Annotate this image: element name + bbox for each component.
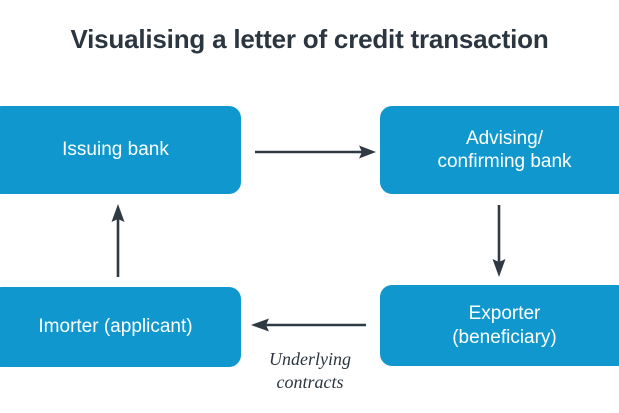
caption-underlying-contracts: Underlying contracts xyxy=(230,348,390,394)
arrow-importer-to-issuing-bank-icon xyxy=(112,204,125,277)
node-exporter-beneficiary-label: Exporter (beneficiary) xyxy=(452,302,557,348)
node-advising-confirming-bank: Advising/ confirming bank xyxy=(380,106,619,194)
arrow-advising-bank-to-exporter-icon xyxy=(493,205,506,277)
node-advising-confirming-bank-label: Advising/ confirming bank xyxy=(437,127,571,173)
node-issuing-bank: Issuing bank xyxy=(0,106,241,194)
arrow-issuing-bank-to-advising-bank-icon xyxy=(255,146,376,159)
node-issuing-bank-label: Issuing bank xyxy=(62,138,169,161)
diagram-canvas: Visualising a letter of credit transacti… xyxy=(0,0,619,413)
node-exporter-beneficiary: Exporter (beneficiary) xyxy=(380,285,619,366)
diagram-title: Visualising a letter of credit transacti… xyxy=(0,24,619,55)
node-importer-applicant-label: Imorter (applicant) xyxy=(38,315,192,338)
arrow-exporter-to-importer-icon xyxy=(251,319,366,332)
node-importer-applicant: Imorter (applicant) xyxy=(0,287,241,367)
